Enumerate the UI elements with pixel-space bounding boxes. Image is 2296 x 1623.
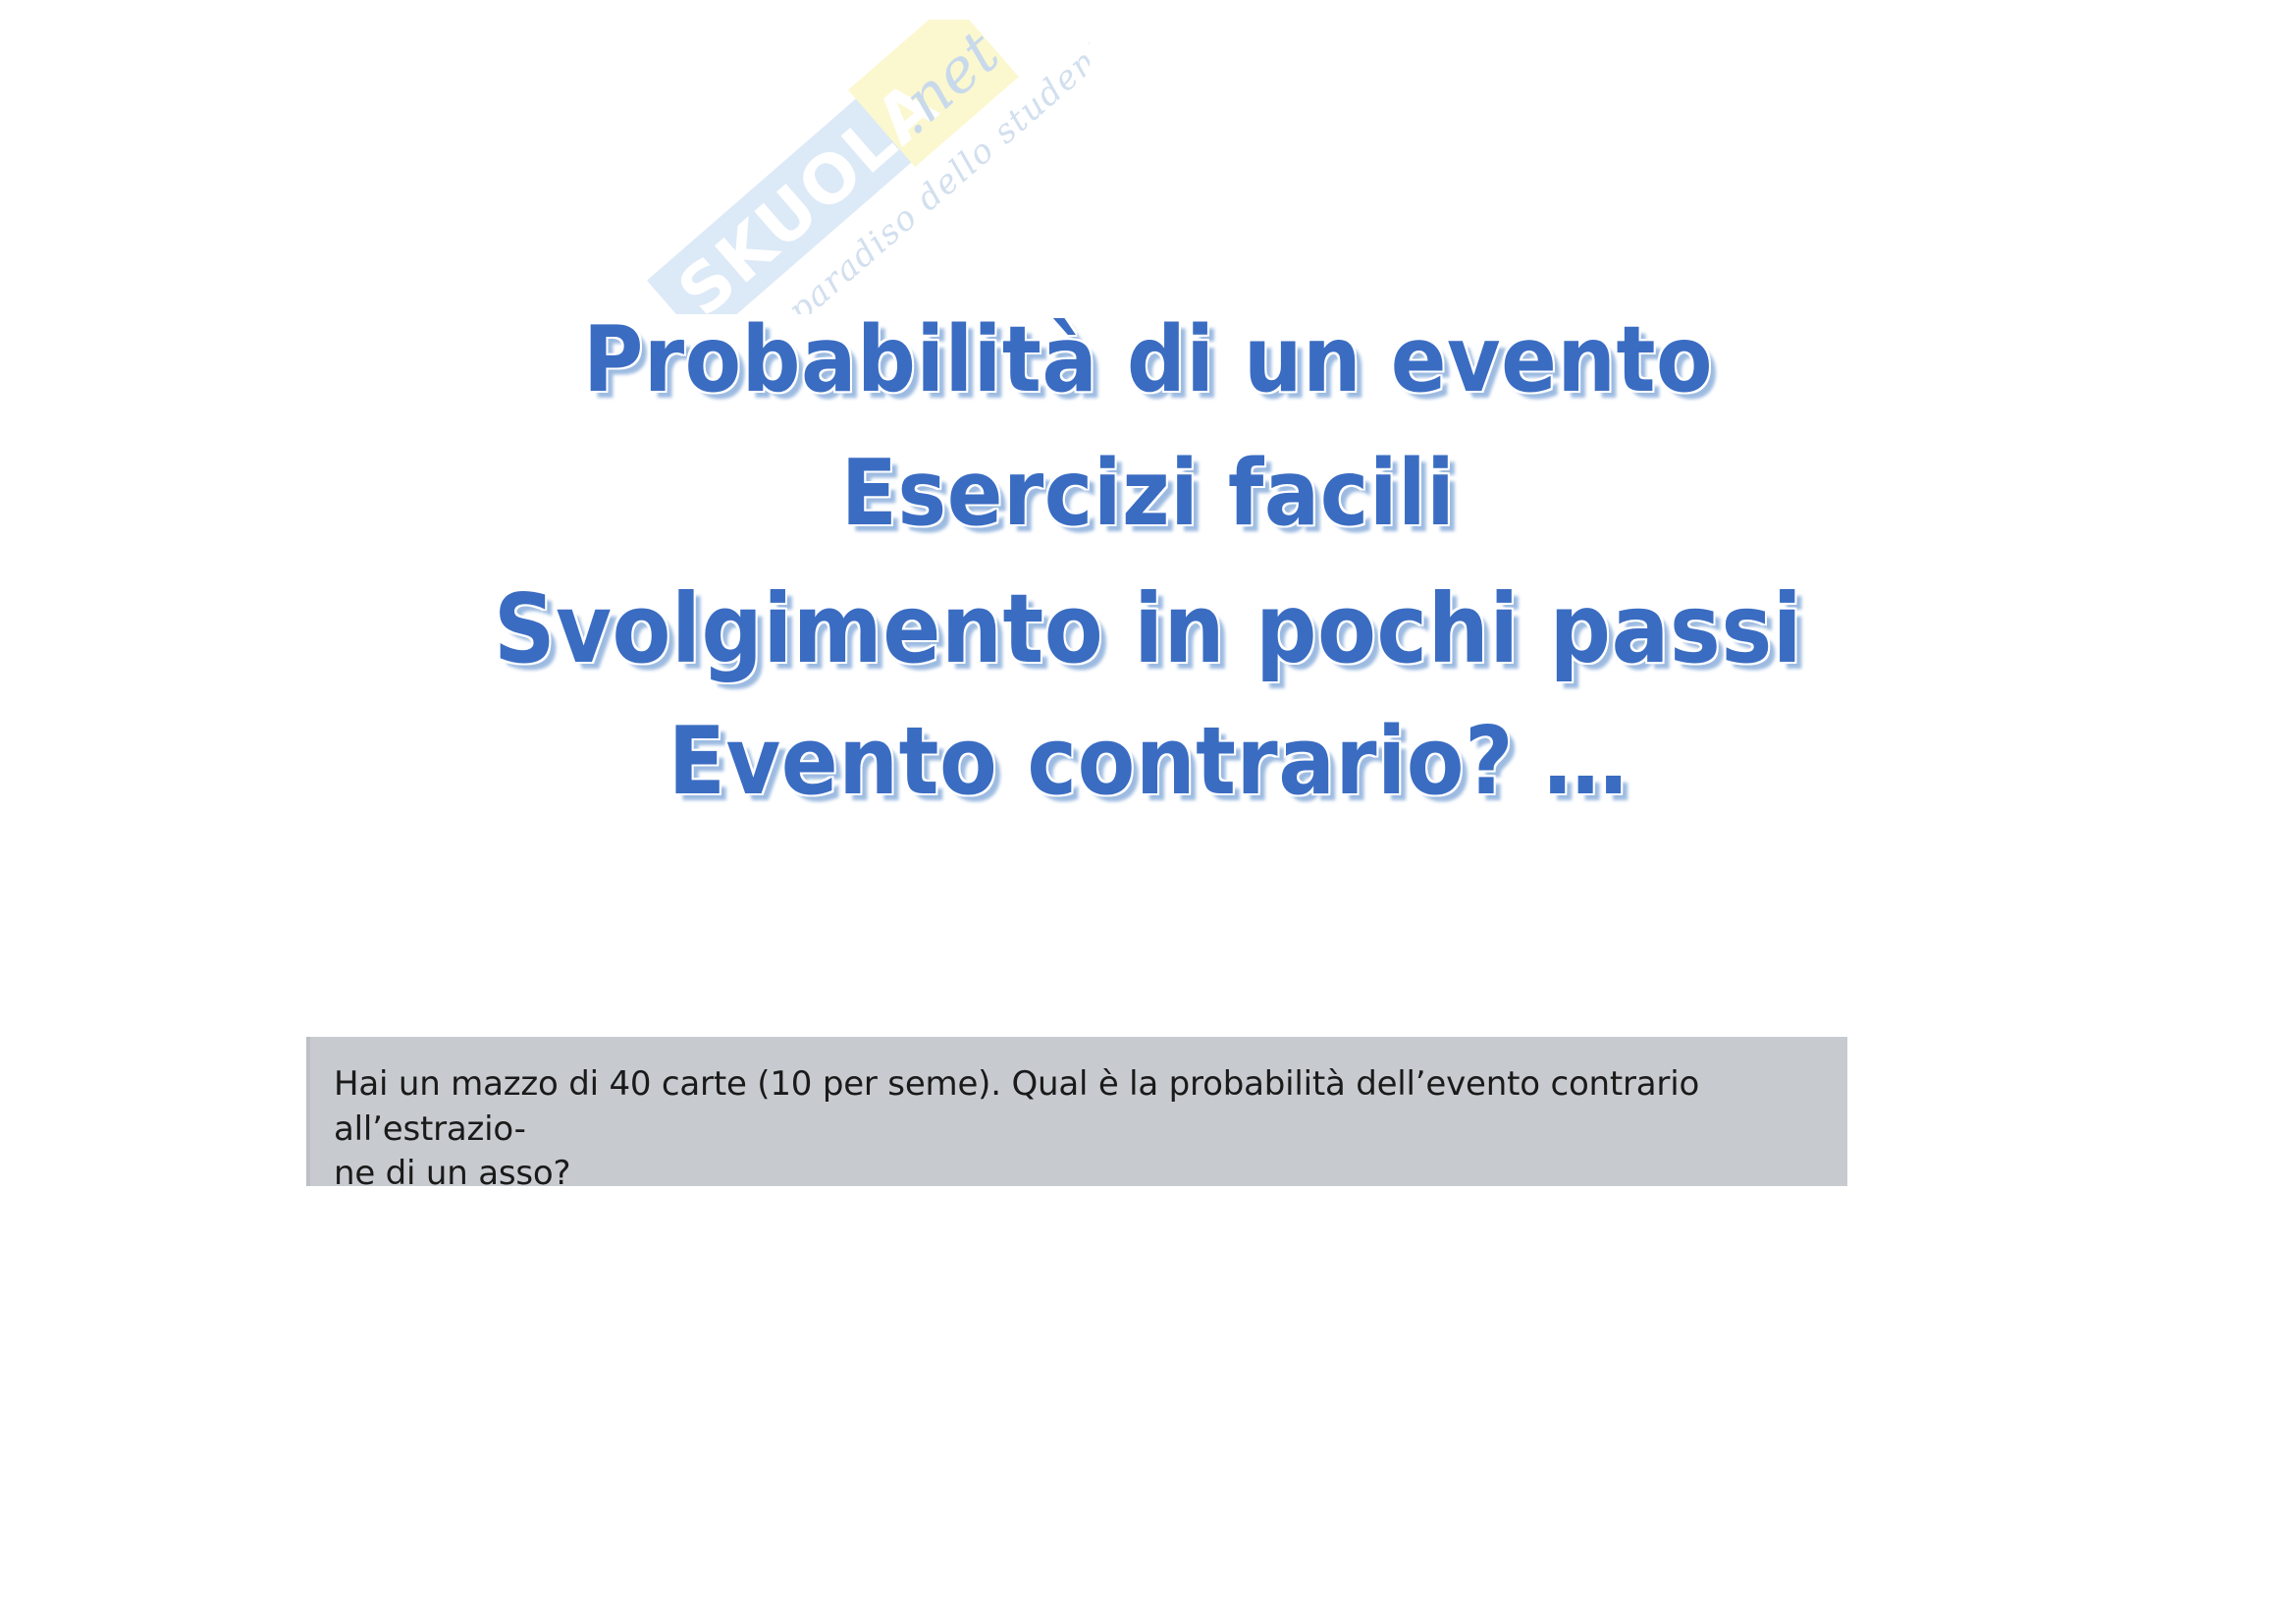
slide-page: SKUOLA .net il paradiso dello studente P… xyxy=(0,0,2296,1623)
skuola-watermark: SKUOLA .net il paradiso dello studente xyxy=(579,20,1090,314)
title-line-3: Svolgimento in pochi passi xyxy=(0,581,2296,676)
exercise-callout-box: Hai un mazzo di 40 carte (10 per seme). … xyxy=(306,1037,1847,1186)
title-block: Probabilità di un evento Esercizi facili… xyxy=(0,314,2296,809)
watermark-badge-shape xyxy=(647,68,946,314)
watermark-brand-text: SKUOLA xyxy=(665,66,953,314)
exercise-question-text: Hai un mazzo di 40 carte (10 per seme). … xyxy=(334,1062,1818,1197)
title-line-4: Evento contrario? … xyxy=(0,716,2296,809)
title-line-1: Probabilità di un evento xyxy=(0,314,2296,406)
title-line-2: Esercizi facili xyxy=(0,448,2296,539)
watermark-tagline-text: il paradiso dello studente xyxy=(753,20,1090,314)
watermark-domain-patch xyxy=(848,20,1019,167)
watermark-domain-text: .net xyxy=(876,20,1012,148)
